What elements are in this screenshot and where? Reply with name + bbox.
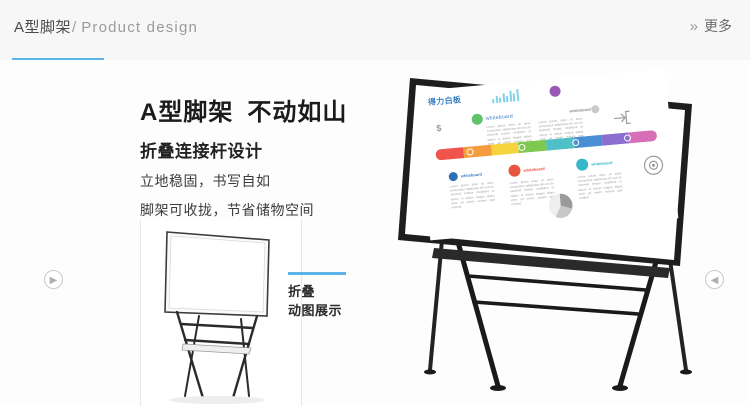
caption-line-1: 折叠 <box>288 283 358 302</box>
product-photo-small <box>140 220 302 406</box>
photo-caption: 折叠 动图展示 <box>288 272 358 321</box>
header-title-separator: / <box>72 19 76 36</box>
board-dot-blue <box>448 172 458 182</box>
board-badge-green <box>471 113 483 125</box>
headline-part-a: A型脚架 <box>140 99 233 126</box>
whiteboard-illustration: 得力白板 whiteboard Lorem ipsum dolor sit am… <box>370 70 730 400</box>
chevron-left-icon: ◀ <box>711 275 719 286</box>
double-chevron-right-icon: » <box>690 18 696 35</box>
easel-photo-illustration <box>141 220 301 406</box>
more-link-label: 更多 <box>704 16 732 36</box>
target-icon <box>642 153 666 177</box>
header-title-en: Product design <box>81 19 198 36</box>
caption-line-2: 动图展示 <box>288 302 358 321</box>
board-dot-red <box>508 164 521 177</box>
board-label-1: whiteboard <box>485 114 513 122</box>
board-section-head-3: whiteboard <box>591 160 613 167</box>
board-section-head-1: whiteboard <box>461 172 483 179</box>
board-content: 得力白板 whiteboard Lorem ipsum dolor sit am… <box>417 69 678 241</box>
header-title: A型脚架 / Product design <box>14 16 198 37</box>
board-paragraph-5: Lorem ipsum dolor sit amet consectetur a… <box>577 171 623 200</box>
section-header: A型脚架 / Product design » 更多 <box>0 0 750 60</box>
carousel-next-button[interactable]: ◀ <box>705 270 724 289</box>
carousel-prev-button[interactable]: ▶ <box>44 270 63 289</box>
pie-chart-icon <box>544 189 577 222</box>
board-title: 得力白板 <box>428 94 462 108</box>
board-paragraph-3: Lorem ipsum dolor sit amet consectetur a… <box>449 181 495 210</box>
board-dot-gray <box>591 105 600 114</box>
header-title-cn: A型脚架 <box>14 16 71 37</box>
board-dot-purple <box>549 85 561 97</box>
headline-part-b: 不动如山 <box>247 99 347 126</box>
product-detail-page: A型脚架 / Product design » 更多 A型脚架不动如山 折叠连接… <box>0 0 750 406</box>
more-link[interactable]: » 更多 <box>690 16 732 36</box>
board-section-head-2: whiteboard <box>523 166 545 173</box>
caption-accent-rule <box>288 272 346 275</box>
board-dollar-icon: $ <box>436 123 442 133</box>
arrows-icon <box>611 108 633 128</box>
section-body: A型脚架不动如山 折叠连接杆设计 立地稳固，书写自如 脚架可收拢，节省储物空间 <box>0 60 750 406</box>
board-label-2: whiteboard <box>569 107 591 114</box>
board-dot-teal <box>576 158 589 171</box>
chevron-right-icon: ▶ <box>50 275 58 286</box>
board-bar-chart <box>491 88 520 103</box>
